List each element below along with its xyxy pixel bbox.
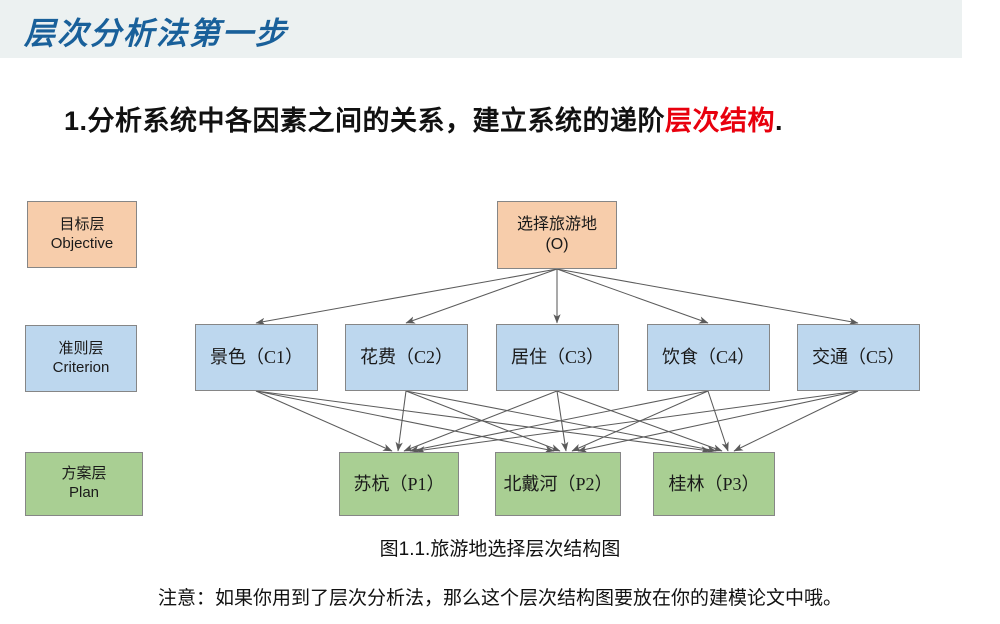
legend-plan-en: Plan [69, 484, 99, 503]
node-criterion-C3[interactable]: 居住（C3） [496, 324, 619, 391]
figure-caption: 图1.1.旅游地选择层次结构图 [0, 534, 1000, 561]
node-criterion-C5-label: 交通（C5） [812, 346, 905, 369]
legend-objective-layer: 目标层 Objective [27, 201, 137, 268]
node-criterion-C2[interactable]: 花费（C2） [345, 324, 468, 391]
node-criterion-C4-label: 饮食（C4） [662, 346, 755, 369]
note-text: 注意：如果你用到了层次分析法，那么这个层次结构图要放在你的建模论文中哦。 [0, 583, 1000, 610]
legend-criterion-cn: 准则层 [58, 340, 103, 359]
legend-objective-en: Objective [51, 235, 114, 254]
node-plan-P1[interactable]: 苏杭（P1） [339, 452, 459, 516]
legend-criterion-layer: 准则层 Criterion [25, 325, 137, 392]
node-plan-P2[interactable]: 北戴河（P2） [495, 452, 621, 516]
node-criterion-C4[interactable]: 饮食（C4） [647, 324, 770, 391]
node-criterion-C5[interactable]: 交通（C5） [797, 324, 920, 391]
legend-criterion-en: Criterion [53, 359, 110, 378]
node-criterion-C3-label: 居住（C3） [511, 346, 604, 369]
node-plan-P3-label: 桂林（P3） [668, 473, 759, 496]
node-plan-P2-label: 北戴河（P2） [503, 473, 612, 496]
node-objective-O[interactable]: 选择旅游地 (O) [497, 201, 617, 269]
legend-plan-cn: 方案层 [61, 465, 106, 484]
node-criterion-C1-label: 景色（C1） [210, 346, 303, 369]
node-criterion-C1[interactable]: 景色（C1） [195, 324, 318, 391]
node-plan-P1-label: 苏杭（P1） [353, 473, 444, 496]
legend-plan-layer: 方案层 Plan [25, 452, 143, 516]
node-criterion-C2-label: 花费（C2） [360, 346, 453, 369]
legend-objective-cn: 目标层 [59, 216, 104, 235]
diagram-edges [0, 0, 1000, 624]
hierarchy-diagram: 目标层 Objective 准则层 Criterion 方案层 Plan 选择旅… [0, 0, 1000, 624]
node-plan-P3[interactable]: 桂林（P3） [653, 452, 775, 516]
node-objective-label: 选择旅游地 [517, 215, 597, 235]
node-objective-code: (O) [545, 235, 568, 255]
